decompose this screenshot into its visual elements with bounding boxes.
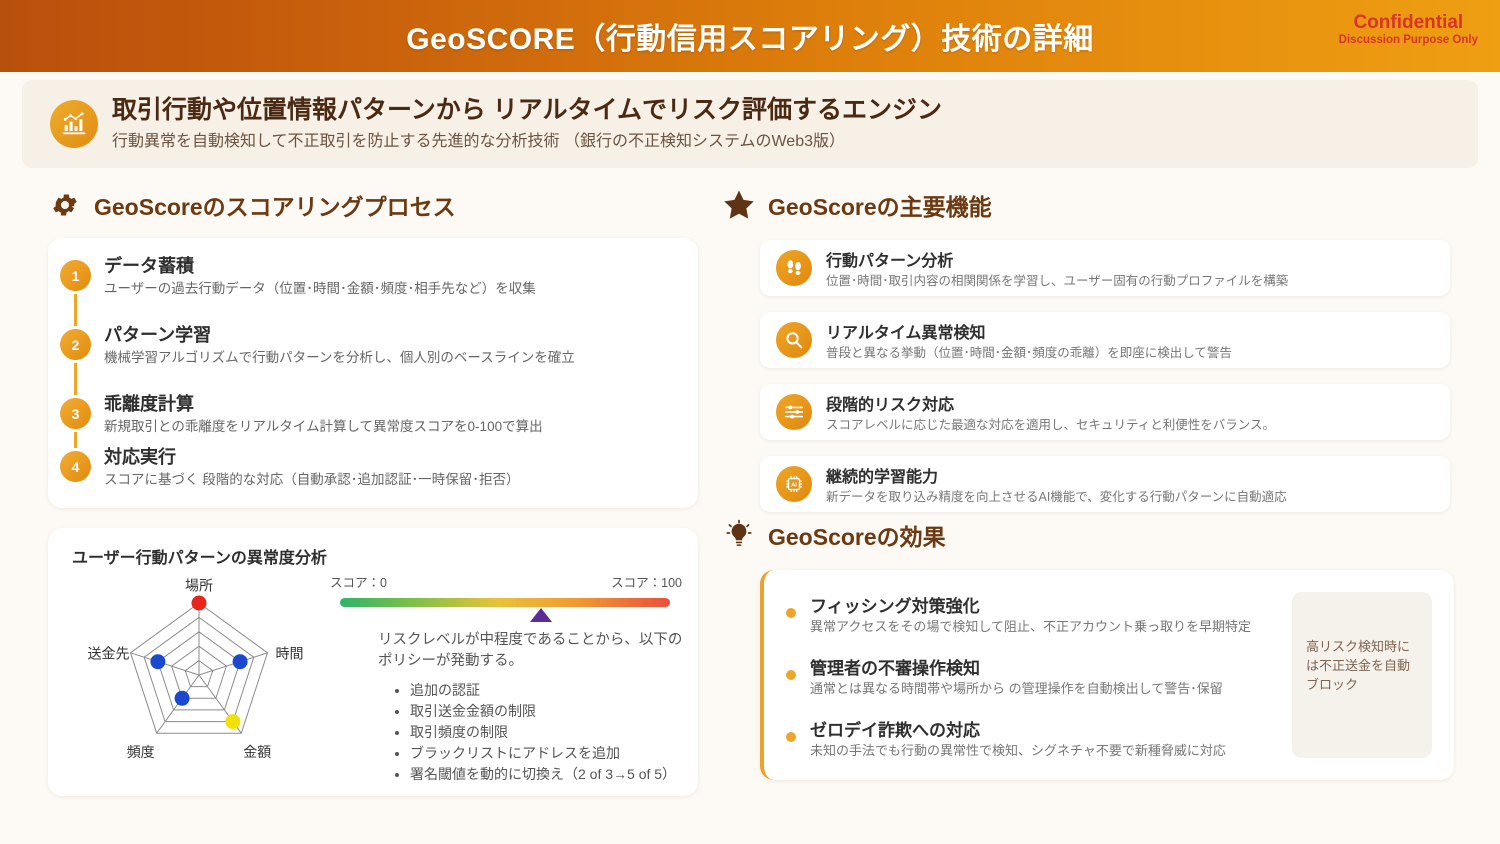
features-section-title: GeoScoreの主要機能 (768, 188, 992, 222)
radar-data-point (192, 596, 207, 611)
svg-text:AI: AI (791, 482, 797, 488)
confidential-badge: Confidential Discussion Purpose Only (1339, 12, 1478, 47)
policy-list: 追加の認証取引送金金額の制限取引頻度の制限ブラックリストにアドレスを追加署名閾値… (390, 680, 730, 785)
radar-axis-label: 場所 (185, 578, 213, 594)
radar-data-point (225, 714, 240, 729)
policy-list-item: 取引送金金額の制限 (410, 701, 730, 722)
confidential-sublabel: Discussion Purpose Only (1339, 34, 1478, 47)
step-description: ユーザーの過去行動データ（位置･時間･金額･頻度･相手先など）を収集 (104, 277, 536, 297)
feature-description: 普段と異なる挙動（位置･時間･金額･頻度の乖離）を即座に検出して警告 (826, 342, 1232, 361)
analytics-chart-icon (50, 100, 98, 148)
risk-level-text: リスクレベルが中程度であることから、以下のポリシーが発動する。 (378, 630, 688, 672)
feature-title: 継続的学習能力 (826, 463, 938, 487)
step-number: 2 (60, 329, 91, 360)
gauge-marker-triangle (530, 608, 552, 622)
feature-title: 行動パターン分析 (826, 247, 953, 271)
gear-icon (48, 188, 82, 222)
feature-description: 新データを取り込み精度を向上させるAI機能で、変化する行動パターンに自動適応 (826, 486, 1287, 505)
bullet-dot-icon (786, 670, 796, 680)
feature-title: リアルタイム異常検知 (826, 319, 986, 343)
step-description: 機械学習アルゴリズムで行動パターンを分析し、個人別のベースラインを確立 (104, 346, 575, 366)
sliders-icon (776, 394, 812, 430)
ai-chip-icon: AI (776, 466, 812, 502)
banner-subline: 行動異常を自動検知して不正取引を防止する先進的な分析技術 （銀行の不正検知システ… (112, 127, 845, 151)
bullet-dot-icon (786, 608, 796, 618)
step-description: スコアに基づく 段階的な対応（自動承認･追加認証･一時保留･拒否） (104, 468, 520, 488)
feature-description: 位置･時間･取引内容の相関関係を学習し、ユーザー固有の行動プロファイルを構築 (826, 270, 1288, 289)
bullet-dot-icon (786, 732, 796, 742)
feature-description: スコアレベルに応じた最適な対応を適用し、セキュリティと利便性をバランス。 (826, 414, 1275, 433)
policy-list-item: 追加の認証 (410, 680, 730, 701)
radar-axis-label: 頻度 (127, 744, 155, 760)
step-number: 3 (60, 398, 91, 429)
radar-chart-title: ユーザー行動パターンの異常度分析 (72, 544, 327, 568)
confidential-label: Confidential (1339, 12, 1478, 34)
footprints-icon (776, 250, 812, 286)
process-section-header: GeoScoreのスコアリングプロセス (48, 188, 456, 222)
star-icon (722, 188, 756, 222)
radar-data-point (175, 691, 190, 706)
radar-chart-svg: 場所時間金額頻度送金先 (64, 570, 334, 785)
effect-title: ゼロデイ詐欺への対応 (810, 716, 980, 741)
step-title: パターン学習 (104, 321, 211, 347)
effect-title: 管理者の不審操作検知 (810, 654, 980, 679)
step-number: 4 (60, 451, 91, 482)
radar-chart: 場所時間金額頻度送金先 (64, 570, 334, 785)
lightbulb-icon (722, 518, 756, 552)
step-description: 新規取引との乖離度をリアルタイム計算して異常度スコアを0-100で算出 (104, 415, 543, 435)
effects-section-title: GeoScoreの効果 (768, 518, 946, 552)
radar-axis-label: 金額 (243, 744, 271, 760)
gauge-min-label: スコア：0 (330, 572, 387, 591)
hero-banner: 取引行動や位置情報パターンから リアルタイムでリスク評価するエンジン 行動異常を… (22, 80, 1478, 168)
features-section-header: GeoScoreの主要機能 (722, 188, 992, 222)
radar-data-point (150, 654, 165, 669)
magnifier-icon (776, 322, 812, 358)
feature-card: AI 継続的学習能力 新データを取り込み精度を向上させるAI機能で、変化する行動… (760, 456, 1450, 512)
process-card: 1 データ蓄積 ユーザーの過去行動データ（位置･時間･金額･頻度･相手先など）を… (48, 238, 698, 508)
slide-root: GeoSCORE（行動信用スコアリング）技術の詳細 Confidential D… (0, 0, 1500, 844)
policy-list-item: 取引頻度の制限 (410, 722, 730, 743)
slide-header: GeoSCORE（行動信用スコアリング）技術の詳細 Confidential D… (0, 0, 1500, 72)
effect-description: 未知の手法でも行動の異常性で検知、シグネチャ不要で新種脅威に対応 (810, 740, 1226, 759)
step-title: 乖離度計算 (104, 390, 194, 416)
radar-axis-label: 時間 (276, 646, 304, 662)
step-title: 対応実行 (104, 443, 176, 469)
feature-card: リアルタイム異常検知 普段と異なる挙動（位置･時間･金額･頻度の乖離）を即座に検… (760, 312, 1450, 368)
feature-card: 行動パターン分析 位置･時間･取引内容の相関関係を学習し、ユーザー固有の行動プロ… (760, 240, 1450, 296)
banner-headline: 取引行動や位置情報パターンから リアルタイムでリスク評価するエンジン (112, 90, 942, 126)
feature-card: 段階的リスク対応 スコアレベルに応じた最適な対応を適用し、セキュリティと利便性を… (760, 384, 1450, 440)
effects-card: フィッシング対策強化 異常アクセスをその場で検知して阻止、不正アカウント乗っ取り… (760, 570, 1454, 780)
step-title: データ蓄積 (104, 252, 194, 278)
gauge-track (340, 598, 670, 607)
radar-axis-label: 送金先 (88, 646, 130, 662)
risk-gauge: スコア：0 スコア：100 (330, 572, 682, 628)
process-section-title: GeoScoreのスコアリングプロセス (94, 188, 456, 222)
gauge-max-label: スコア：100 (611, 572, 682, 591)
high-risk-note-text: 高リスク検知時には不正送金を自動ブロック (1306, 638, 1422, 695)
effects-section-header: GeoScoreの効果 (722, 518, 946, 552)
page-title: GeoSCORE（行動信用スコアリング）技術の詳細 (0, 0, 1500, 72)
effect-description: 異常アクセスをその場で検知して阻止、不正アカウント乗っ取りを早期特定 (810, 616, 1251, 635)
policy-list-item: ブラックリストにアドレスを追加 (410, 743, 730, 764)
effect-description: 通常とは異なる時間帯や場所から の管理操作を自動検出して警告･保留 (810, 678, 1223, 697)
anomaly-analysis-card: ユーザー行動パターンの異常度分析 場所時間金額頻度送金先 スコア：0 スコア：1… (48, 528, 698, 796)
policy-list-item: 署名閾値を動的に切換え（2 of 3→5 of 5） (410, 764, 730, 785)
step-number: 1 (60, 260, 91, 291)
radar-data-point (233, 654, 248, 669)
feature-title: 段階的リスク対応 (826, 391, 954, 415)
high-risk-note: 高リスク検知時には不正送金を自動ブロック (1292, 592, 1432, 758)
effect-title: フィッシング対策強化 (810, 592, 980, 617)
